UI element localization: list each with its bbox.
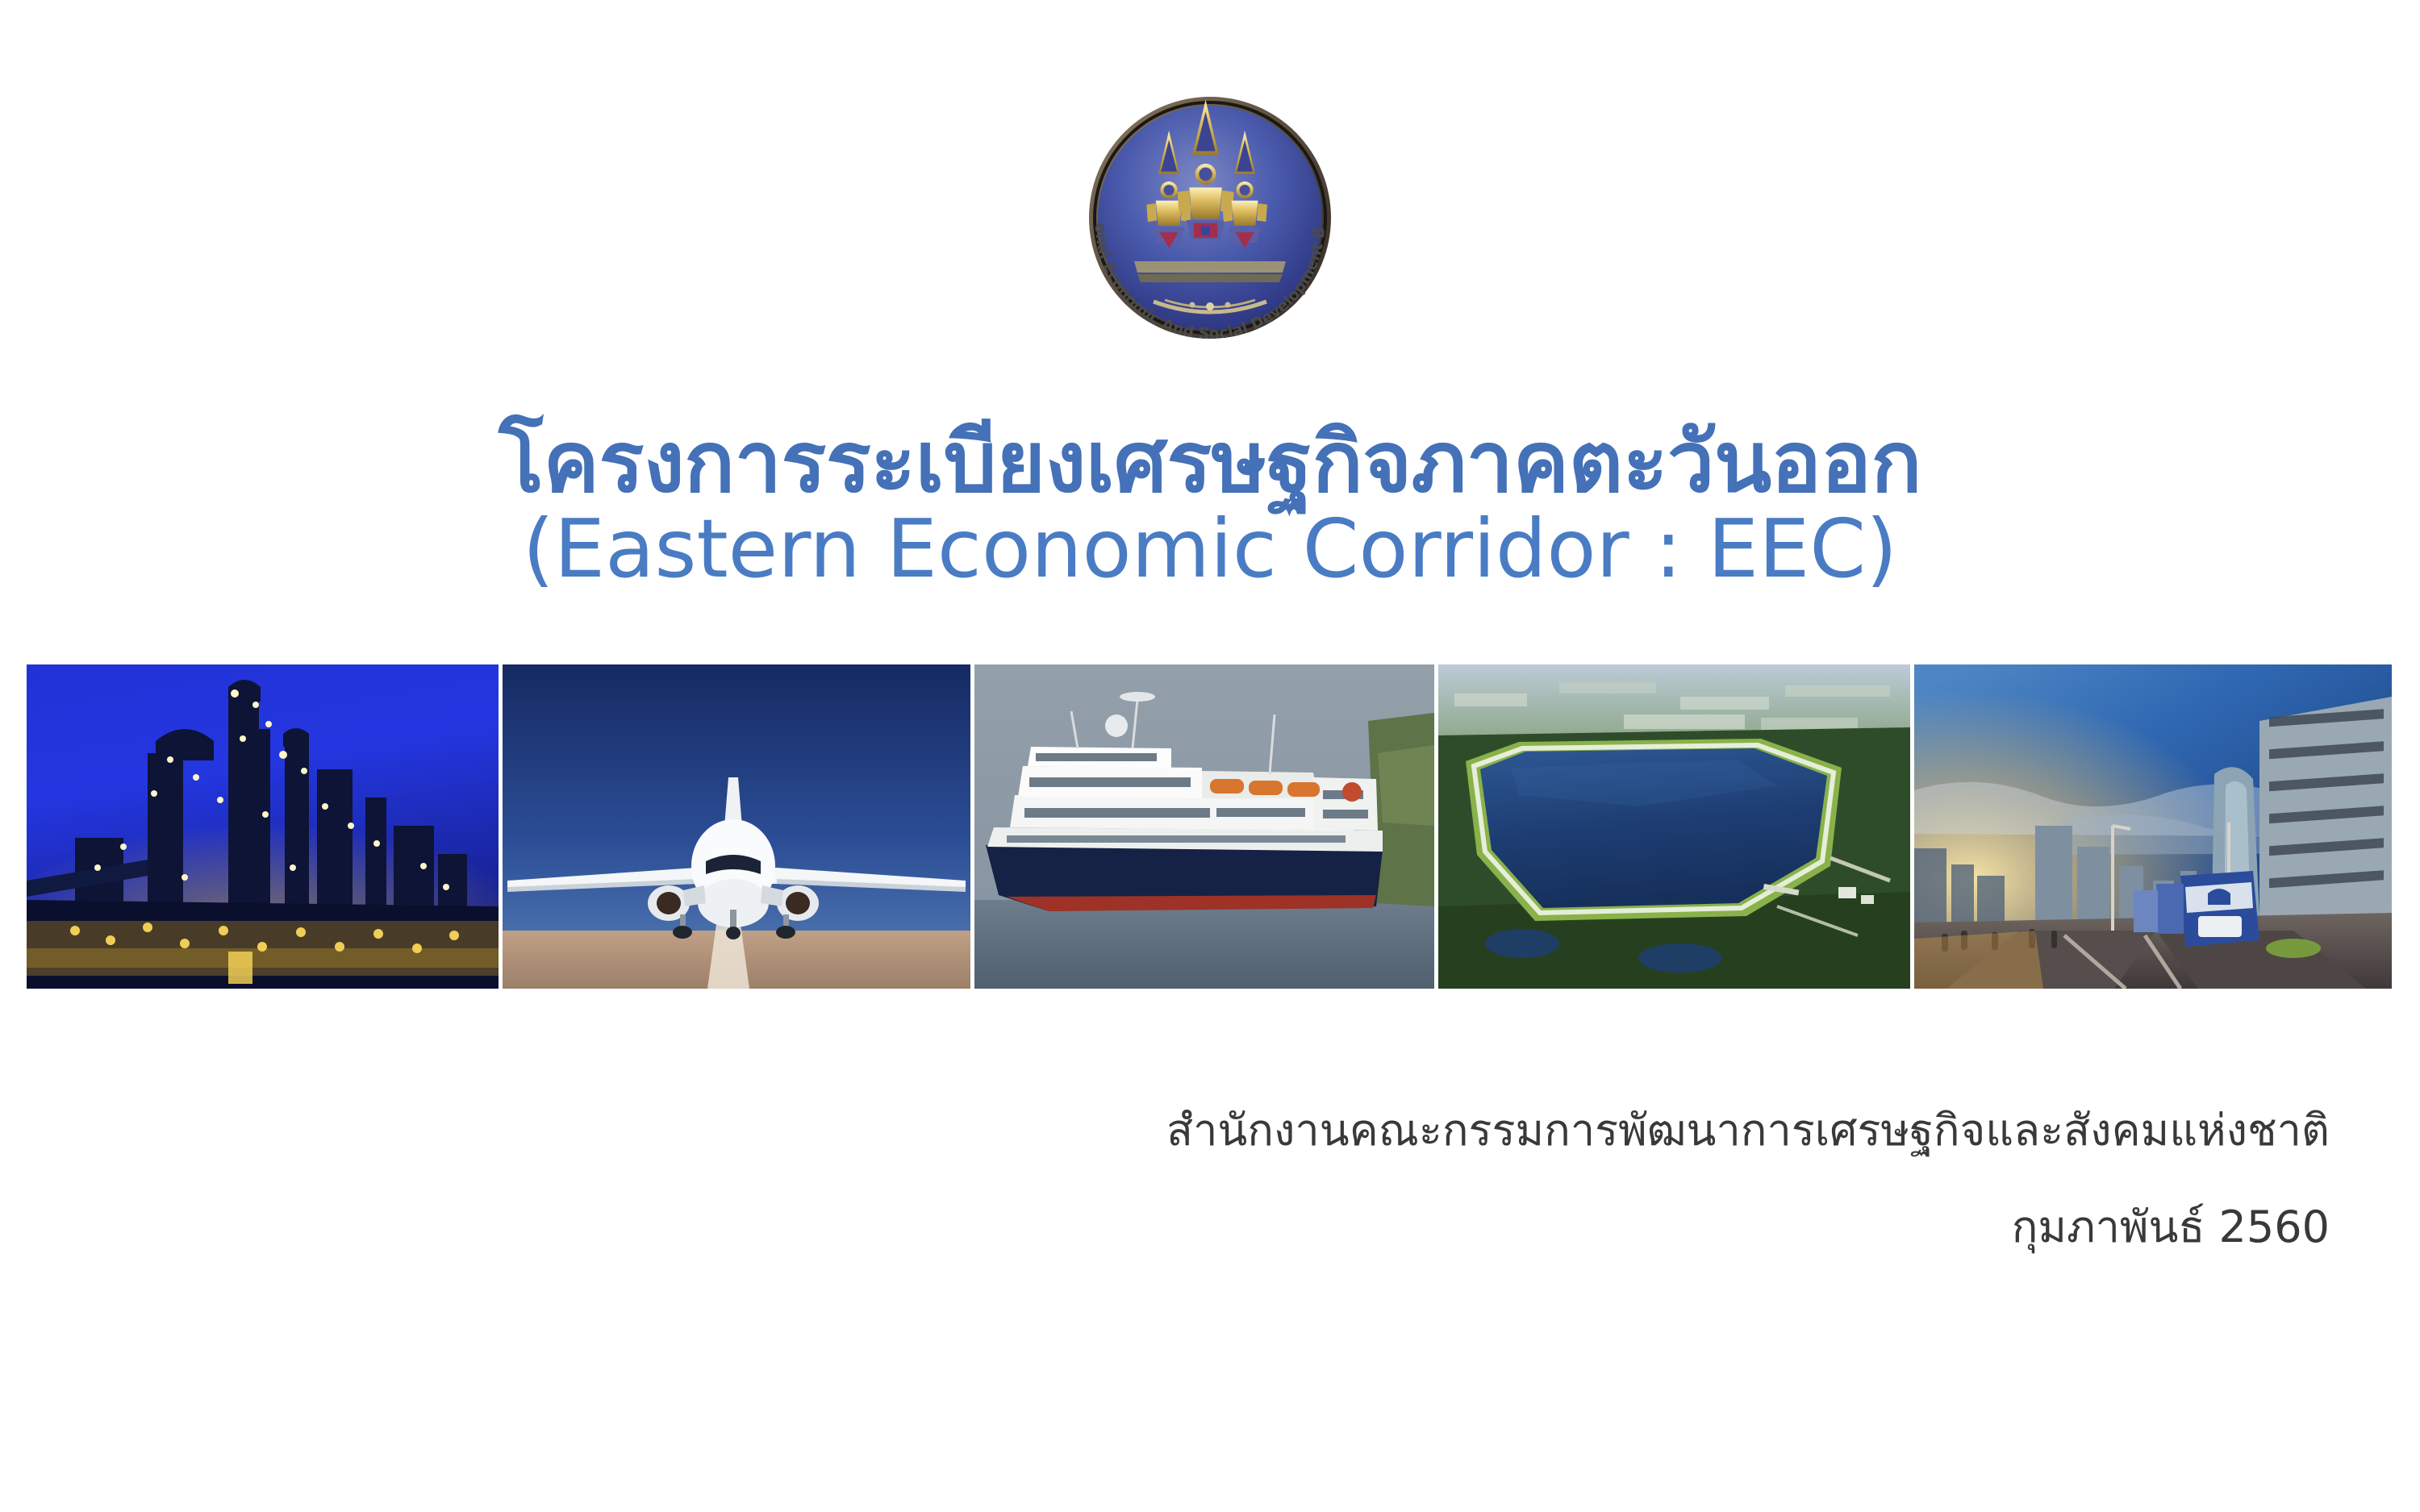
photo-skytrain-city bbox=[1914, 664, 2392, 989]
slide-title-thai: โครงการระเบียงเศรษฐกิจภาคตะวันออก bbox=[0, 415, 2420, 509]
photo-airplane-takeoff bbox=[503, 664, 970, 989]
photo-strip bbox=[27, 664, 2394, 989]
photo-petrochemical-plant bbox=[27, 664, 499, 989]
photo-cruise-ship bbox=[974, 664, 1434, 989]
photo-reservoir-aerial bbox=[1438, 664, 1910, 989]
nesdb-logo: National Economic And Social Development… bbox=[1063, 71, 1357, 364]
title-block: โครงการระเบียงเศรษฐกิจภาคตะวันออก (Easte… bbox=[0, 415, 2420, 594]
slide-root: National Economic And Social Development… bbox=[0, 0, 2420, 1512]
organization-name: สำนักงานคณะกรรมการพัฒนาการเศรษฐกิจและสัง… bbox=[1166, 1105, 2330, 1157]
nesdb-emblem-icon: National Economic And Social Development… bbox=[1063, 71, 1357, 364]
publication-date: กุมภาพันธ์ 2560 bbox=[1166, 1202, 2330, 1254]
footer-block: สำนักงานคณะกรรมการพัฒนาการเศรษฐกิจและสัง… bbox=[1166, 1105, 2330, 1254]
slide-title-english: (Eastern Economic Corridor : EEC) bbox=[0, 504, 2420, 594]
